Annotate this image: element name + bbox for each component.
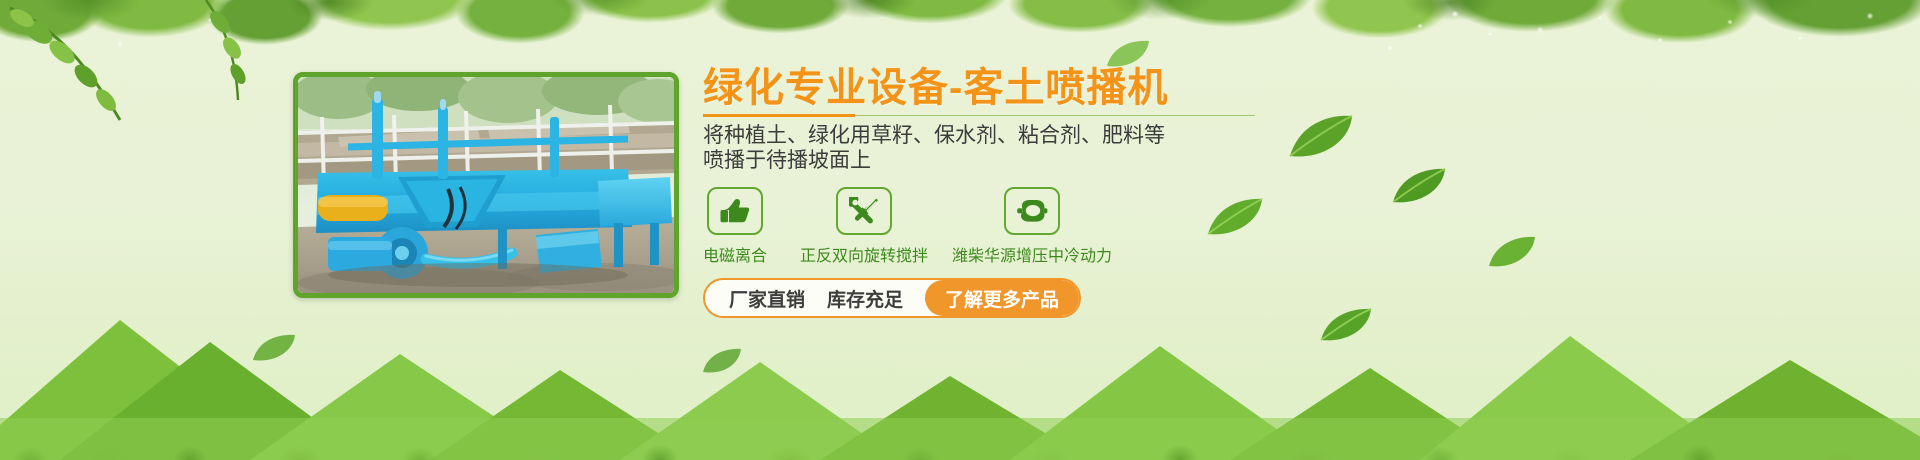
promo-banner: 绿化专业设备-客土喷播机 将种植土、绿化用草籽、保水剂、粘合剂、肥料等 喷播于待… bbox=[0, 0, 1920, 460]
thumbs-up-icon bbox=[720, 198, 750, 224]
product-photo-image bbox=[298, 77, 674, 293]
page-title: 绿化专业设备-客土喷播机 bbox=[703, 66, 1323, 110]
floating-leaf-icon bbox=[1486, 234, 1538, 272]
cta-tags: 厂家直销 库存充足 bbox=[705, 280, 925, 316]
feature-item-bidirectional-mixing[interactable]: 正反双向旋转搅拌 bbox=[800, 187, 928, 266]
feature-list: 电磁离合 bbox=[703, 187, 1323, 266]
divider-green-segment bbox=[855, 115, 1255, 116]
wrench-screwdriver-icon bbox=[849, 197, 879, 225]
feature-label: 电磁离合 bbox=[703, 242, 767, 266]
divider-orange-segment bbox=[703, 114, 855, 117]
title-divider bbox=[703, 114, 1255, 117]
banner-content: 绿化专业设备-客土喷播机 将种植土、绿化用草籽、保水剂、粘合剂、肥料等 喷播于待… bbox=[703, 66, 1323, 318]
feature-icon-box bbox=[836, 187, 892, 235]
feature-icon-box bbox=[707, 187, 763, 235]
engine-power-icon bbox=[1016, 198, 1048, 224]
feature-label: 潍柴华源增压中冷动力 bbox=[952, 242, 1112, 266]
learn-more-button[interactable]: 了解更多产品 bbox=[925, 280, 1079, 316]
tree-canopy-shadow bbox=[0, 0, 1920, 70]
feature-label: 正反双向旋转搅拌 bbox=[800, 242, 928, 266]
cta-tag-factory-direct: 厂家直销 bbox=[729, 285, 805, 312]
floating-leaf-icon bbox=[250, 332, 298, 366]
floating-leaf-icon bbox=[700, 346, 744, 378]
feature-item-electromagnetic-clutch[interactable]: 电磁离合 bbox=[703, 187, 767, 266]
feature-icon-box bbox=[1004, 187, 1060, 235]
cta-tag-stock-sufficient: 库存充足 bbox=[827, 285, 903, 312]
floating-leaf-icon bbox=[1390, 166, 1448, 208]
subtitle-line-2: 喷播于待播坡面上 bbox=[703, 148, 1323, 173]
grass-strip bbox=[0, 384, 1920, 460]
product-photo[interactable] bbox=[293, 72, 679, 298]
subtitle-line-1: 将种植土、绿化用草籽、保水剂、粘合剂、肥料等 bbox=[703, 123, 1323, 148]
branch-left-icon bbox=[0, 0, 320, 150]
feature-item-weichai-power[interactable]: 潍柴华源增压中冷动力 bbox=[952, 187, 1112, 266]
floating-leaf-icon bbox=[1318, 306, 1374, 346]
cta-group: 厂家直销 库存充足 了解更多产品 bbox=[703, 278, 1081, 318]
